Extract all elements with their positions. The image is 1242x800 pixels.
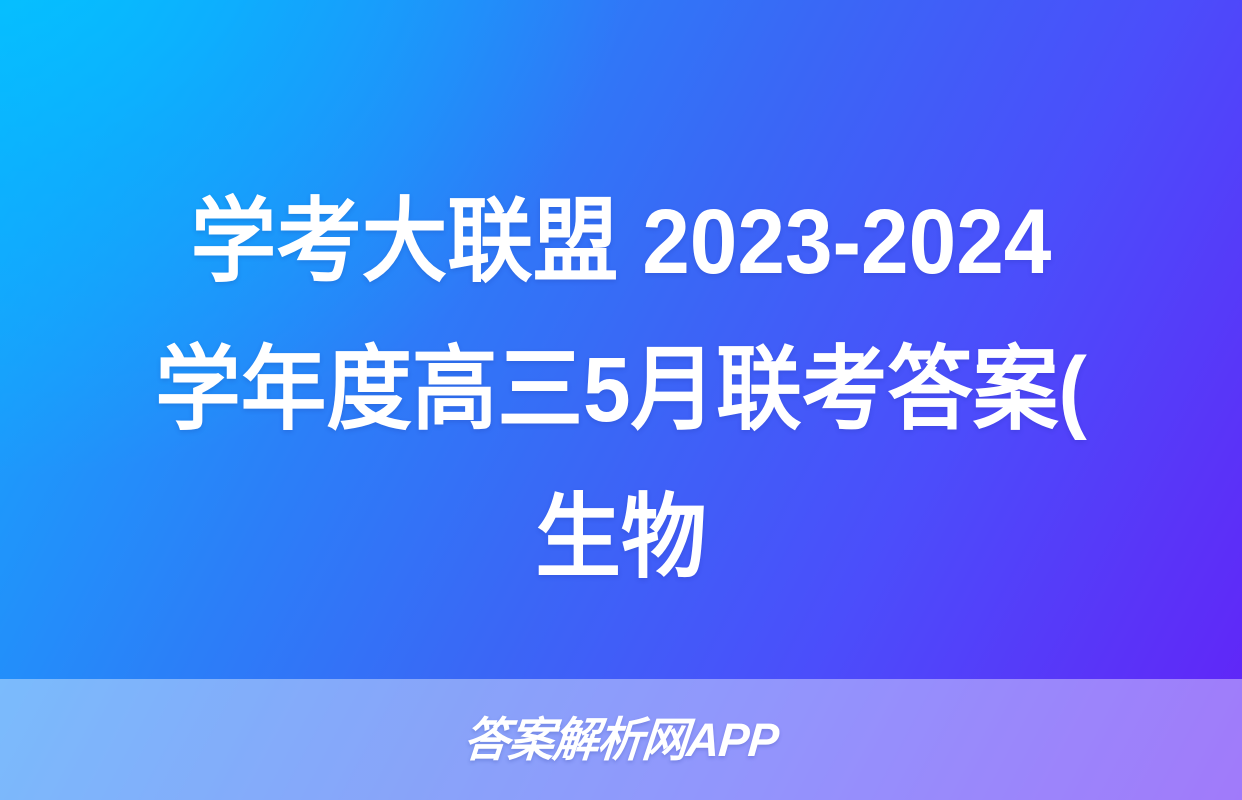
app-watermark-label: 答案解析网APP — [462, 714, 780, 766]
poster-canvas: 学考大联盟 2023-2024 学年度高三5月联考答案( 生物 答案解析网APP — [0, 0, 1242, 800]
poster-title-line-3: 生物 — [116, 464, 1126, 612]
footer-watermark-band: 答案解析网APP — [0, 679, 1242, 800]
poster-title-line-1: 学考大联盟 2023-2024 — [116, 168, 1126, 316]
poster-title-line-2: 学年度高三5月联考答案( — [116, 316, 1126, 464]
poster-title-block: 学考大联盟 2023-2024 学年度高三5月联考答案( 生物 — [0, 168, 1242, 612]
